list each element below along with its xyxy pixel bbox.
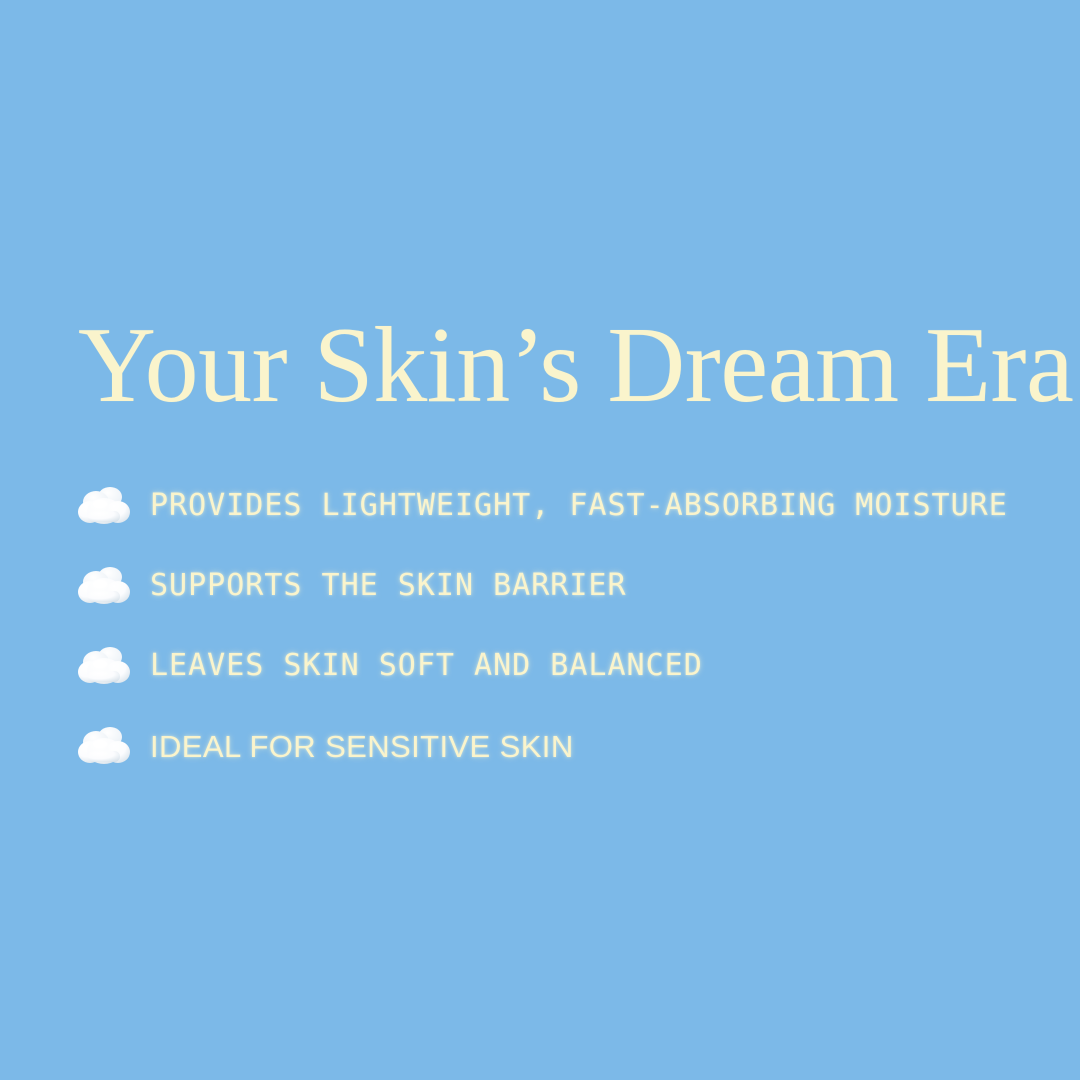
cloud-icon [76, 563, 132, 609]
list-item-label: SUPPORTS THE SKIN BARRIER [150, 571, 1066, 601]
cloud-icon [76, 723, 132, 769]
benefits-list: PROVIDES LIGHTWEIGHT, FAST-ABSORBING MOI… [76, 466, 1066, 786]
list-item-label: PROVIDES LIGHTWEIGHT, FAST-ABSORBING MOI… [150, 491, 1066, 521]
page-title: Your Skin’s Dream Era [78, 312, 1018, 420]
list-item: LEAVES SKIN SOFT AND BALANCED [76, 626, 1066, 706]
list-item: IDEAL FOR SENSITIVE SKIN [76, 706, 1066, 786]
cloud-icon [76, 483, 132, 529]
list-item-label: IDEAL FOR SENSITIVE SKIN [150, 731, 1066, 762]
list-item-label: LEAVES SKIN SOFT AND BALANCED [150, 651, 1066, 681]
cloud-icon [76, 643, 132, 689]
list-item: SUPPORTS THE SKIN BARRIER [76, 546, 1066, 626]
poster-canvas: Your Skin’s Dream Era [0, 0, 1080, 1080]
list-item: PROVIDES LIGHTWEIGHT, FAST-ABSORBING MOI… [76, 466, 1066, 546]
